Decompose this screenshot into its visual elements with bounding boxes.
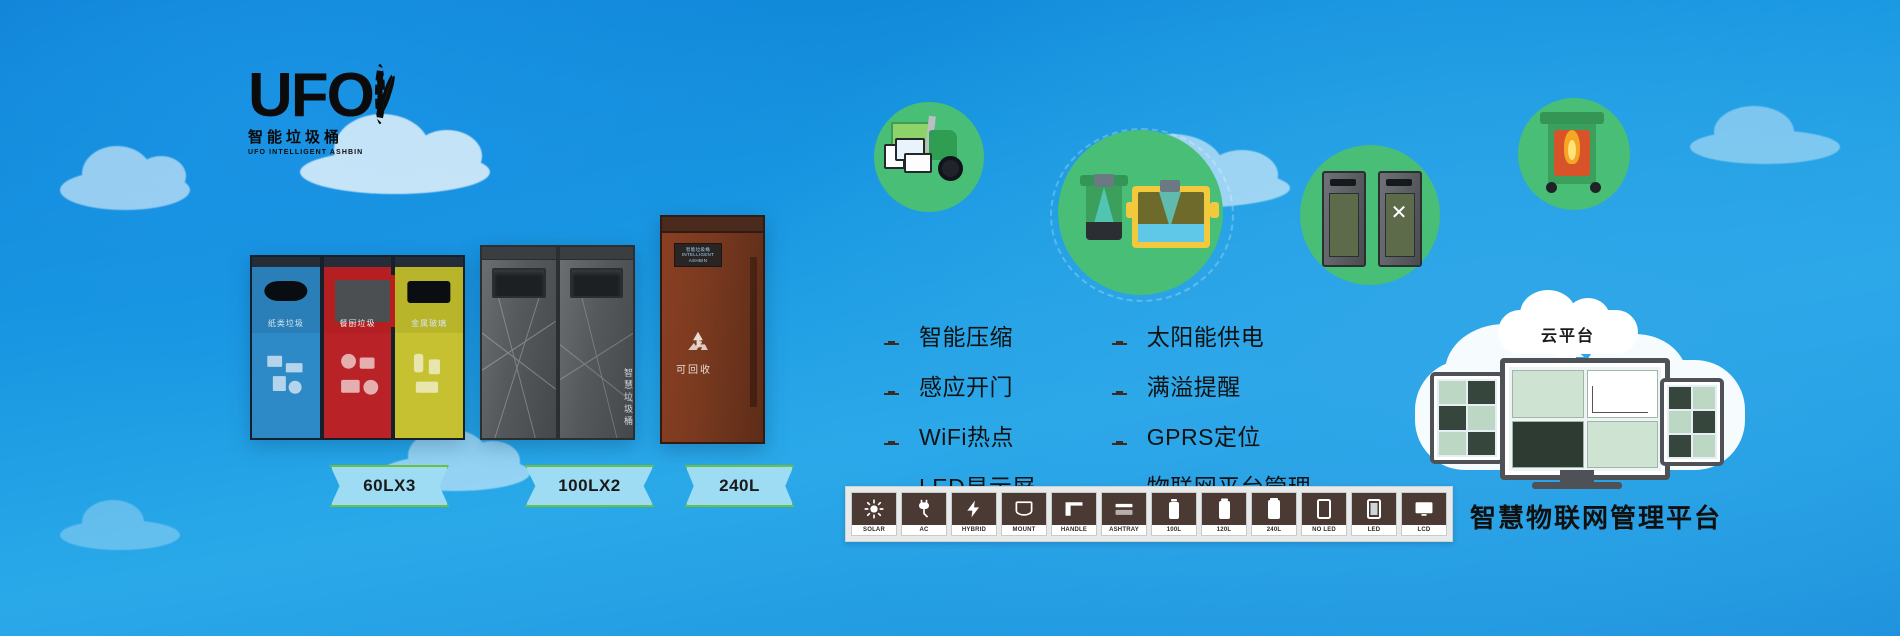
badge-hybrid[interactable]: HYBRID [951, 492, 997, 536]
badge-no-led[interactable]: NO LED [1301, 492, 1347, 536]
dashboard-tile-chart [1587, 370, 1659, 418]
waste-pictogram [258, 339, 314, 413]
waste-pictogram [330, 339, 386, 413]
compartment-label: 餐厨垃圾 [340, 318, 376, 329]
led-panel-icon [1352, 493, 1396, 525]
bin-unit-right: 智慧垃圾桶 [558, 245, 636, 440]
badge-handle[interactable]: HANDLE [1051, 492, 1097, 536]
badge-label: 120L [1217, 525, 1231, 535]
desktop-monitor [1500, 358, 1670, 480]
badge-lcd[interactable]: LCD [1401, 492, 1447, 536]
display-panel: 智能垃圾桶 INTELLIGENT ASHBIN [674, 243, 722, 267]
bin-compartment-paper: 纸类垃圾 [250, 255, 322, 440]
badge-label: LCD [1418, 525, 1431, 535]
product-bin-brown: 智能垃圾桶 INTELLIGENT ASHBIN 可回收 [660, 215, 765, 440]
logo-wordmark: UFO [248, 62, 368, 124]
recycle-icon [682, 329, 714, 357]
badge-led[interactable]: LED [1351, 492, 1397, 536]
product-bin-double: 智慧垃圾桶 [480, 245, 635, 440]
badge-mount[interactable]: MOUNT [1001, 492, 1047, 536]
badge-100l[interactable]: 100L [1151, 492, 1197, 536]
twin-bin-status-icon: ✕ [1300, 145, 1440, 285]
product-bin-triple: 纸类垃圾 餐厨垃圾 金属玻璃 [250, 255, 465, 440]
badge-240l[interactable]: 240L [1251, 492, 1297, 536]
feature-label: 感应开门 [919, 368, 1013, 402]
monitor-icon [1108, 326, 1131, 345]
badge-label: HANDLE [1061, 525, 1087, 535]
panel-etching [482, 298, 556, 438]
badge-solar[interactable]: SOLAR [851, 492, 897, 536]
cloud-platform-label: 云平台 [1498, 322, 1638, 346]
collection-truck-icon [874, 102, 984, 212]
compartment-label: 纸类垃圾 [268, 318, 304, 329]
monitor-icon [880, 376, 903, 395]
waste-pictogram [401, 339, 457, 413]
badge-label: SOLAR [863, 525, 885, 535]
feature-column-left: 智能压缩 感应开门 WiFi热点 LED显示屏 [880, 318, 1036, 502]
bin-240l-icon [1252, 493, 1296, 525]
handle-icon [1052, 493, 1096, 525]
brand-logo: UFO 智能垃圾桶 UFO INTELLIGENT ASHBIN [248, 62, 368, 154]
feature-item: 满溢提醒 [1108, 368, 1312, 402]
monitor-icon [1108, 426, 1131, 445]
badge-label: LED [1368, 525, 1381, 535]
badge-label: MOUNT [1013, 525, 1036, 535]
feature-label: GPRS定位 [1147, 418, 1261, 452]
feature-column-right: 太阳能供电 满溢提醒 GPRS定位 物联网平台管理 [1108, 318, 1312, 502]
dashboard-screen [1509, 367, 1661, 471]
fill-level-sensor-icon [1058, 130, 1223, 295]
tablet-device-right [1660, 378, 1724, 466]
monitor-icon [880, 426, 903, 445]
dashboard-tile-list [1587, 421, 1659, 469]
badge-ashtray[interactable]: ASHTRAY [1101, 492, 1147, 536]
feature-item: WiFi热点 [880, 418, 1036, 452]
monitor-base [1532, 482, 1622, 489]
banner-canvas: UFO 智能垃圾桶 UFO INTELLIGENT ASHBIN 纸类垃圾 餐厨… [0, 0, 1900, 636]
badge-label: HYBRID [962, 525, 986, 535]
feature-label: WiFi热点 [919, 418, 1014, 452]
dashboard-tile-map [1512, 370, 1584, 418]
x-mark-icon: ✕ [1389, 203, 1409, 223]
feature-item: 太阳能供电 [1108, 318, 1312, 352]
feature-label: 智能压缩 [919, 318, 1013, 352]
recycle-label: 可回收 [676, 361, 712, 376]
no-led-icon [1302, 493, 1346, 525]
feature-item: 感应开门 [880, 368, 1036, 402]
bin-120l-icon [1202, 493, 1246, 525]
bin-side-text: 智慧垃圾桶 [622, 368, 633, 428]
feature-label: 太阳能供电 [1147, 318, 1265, 352]
compartment-label: 金属玻璃 [411, 318, 447, 329]
badge-ac[interactable]: AC [901, 492, 947, 536]
monitor-icon [880, 326, 903, 345]
bin-100l-icon [1152, 493, 1196, 525]
feature-item: 智能压缩 [880, 318, 1036, 352]
cloud-decoration [60, 520, 180, 550]
logo-text: UFO [248, 67, 373, 124]
capacity-ribbon-100lx2: 100LX2 [525, 465, 654, 507]
plug-icon [902, 493, 946, 525]
dashboard-tile-status [1512, 421, 1584, 469]
sun-icon [852, 493, 896, 525]
fire-detection-icon [1518, 98, 1630, 210]
badge-120l[interactable]: 120L [1201, 492, 1247, 536]
badge-label: AC [919, 525, 928, 535]
feature-item: GPRS定位 [1108, 418, 1312, 452]
bin-compartment-kitchen: 餐厨垃圾 [322, 255, 394, 440]
badge-label: NO LED [1312, 525, 1336, 535]
logo-english-name: UFO INTELLIGENT ASHBIN [248, 149, 368, 156]
lcd-screen-icon [1402, 493, 1446, 525]
wall-mount-icon [1002, 493, 1046, 525]
feature-list: 智能压缩 感应开门 WiFi热点 LED显示屏 太阳能供电 满溢提醒 [880, 318, 1311, 502]
badge-label: ASHTRAY [1109, 525, 1139, 535]
badge-label: 240L [1267, 525, 1281, 535]
bin-lid [660, 215, 765, 231]
ashtray-icon [1102, 493, 1146, 525]
badge-label: 100L [1167, 525, 1181, 535]
cloud-decoration [1690, 130, 1840, 164]
feature-label: 满溢提醒 [1147, 368, 1241, 402]
capacity-ribbon-60lx3: 60LX3 [330, 465, 449, 507]
bin-compartment-metal-glass: 金属玻璃 [393, 255, 465, 440]
cloud-decoration [60, 170, 190, 210]
option-badge-strip: SOLAR AC HYBRID MOUNT HANDLE ASHTRAY 100… [845, 486, 1453, 542]
monitor-icon [1108, 376, 1131, 395]
platform-title: 智慧物联网管理平台 [1470, 498, 1722, 535]
bin-unit-left [480, 245, 558, 440]
bin-body: 智能垃圾桶 INTELLIGENT ASHBIN 可回收 [660, 231, 765, 444]
cloud-decoration [300, 150, 490, 194]
tablet-device-left [1430, 372, 1504, 464]
display-panel-text: 智能垃圾桶 INTELLIGENT ASHBIN [675, 247, 721, 264]
lightning-icon [952, 493, 996, 525]
capacity-ribbon-240l: 240L [685, 465, 794, 507]
